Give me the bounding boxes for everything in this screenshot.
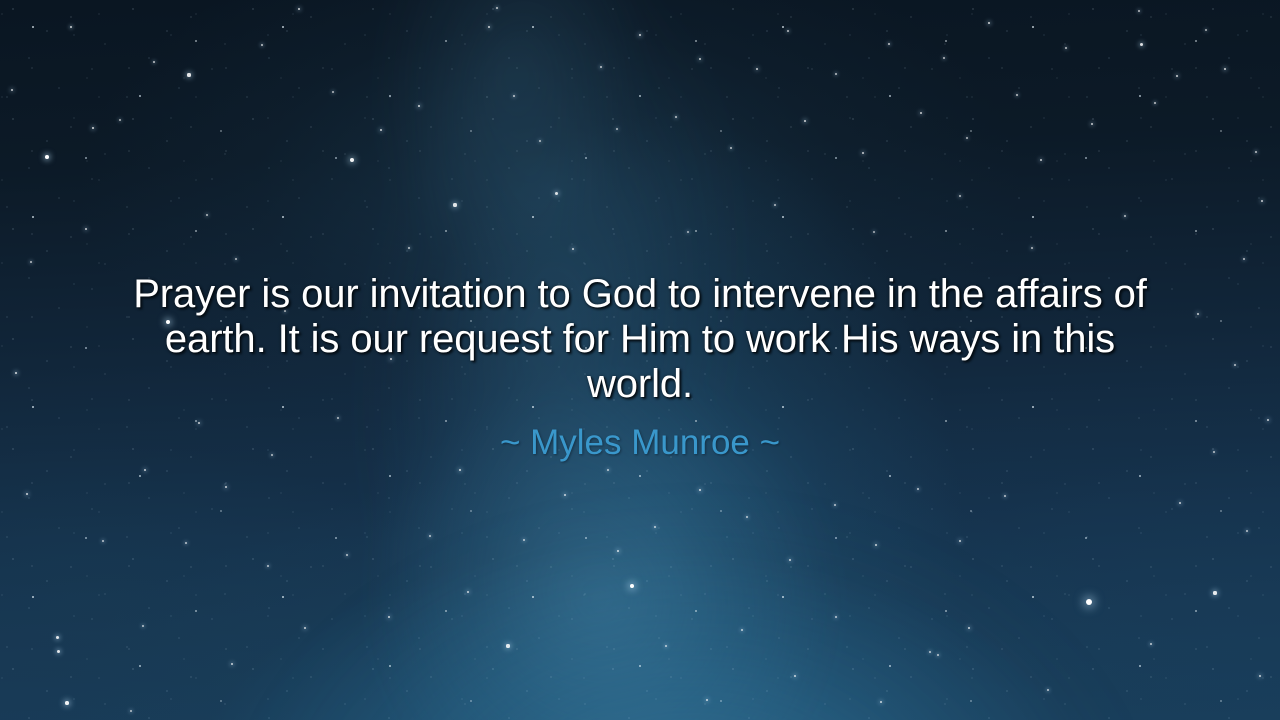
quote-card: Prayer is our invitation to God to inter…: [0, 0, 1280, 720]
quote-attribution: ~ Myles Munroe ~: [500, 423, 780, 463]
quote-body-text: Prayer is our invitation to God to inter…: [118, 272, 1163, 407]
quote-content: Prayer is our invitation to God to inter…: [0, 0, 1280, 720]
